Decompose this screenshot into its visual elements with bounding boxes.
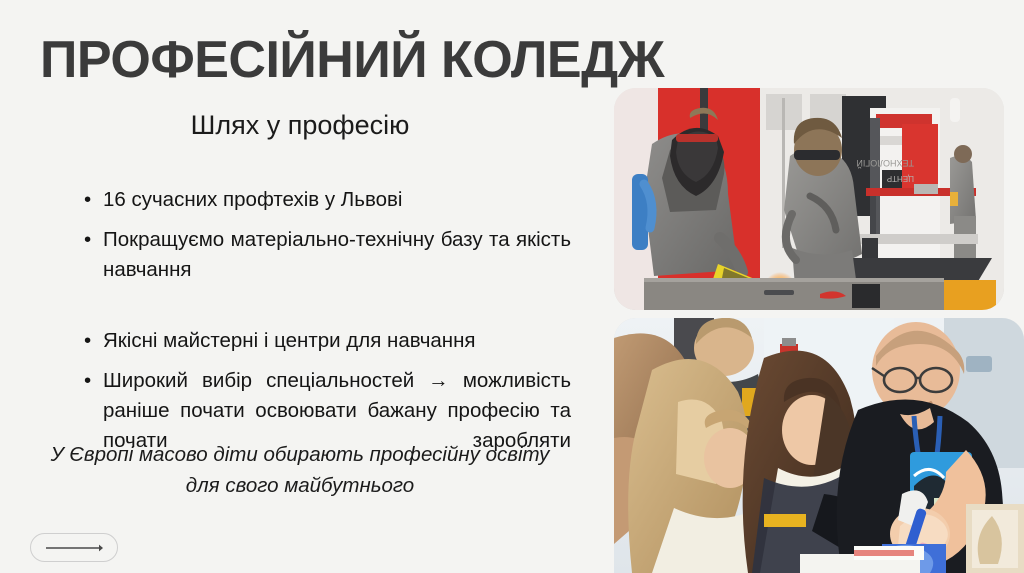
page-title: ПРОФЕСІЙНИЙ КОЛЕДЖ (40, 33, 664, 88)
photo-column: ТЕХНОЛОГІЙ ЦЕНТР (614, 0, 1024, 573)
bullet-marker: • (84, 326, 91, 356)
content-column: ПРОФЕСІЙНИЙ КОЛЕДЖ Шлях у професію • 16 … (0, 0, 604, 573)
list-item: • 16 сучасних профтехів у Львові (84, 185, 571, 215)
list-item-label: Покращуємо матеріально-технічну базу та … (103, 228, 571, 311)
footnote-text: У Європі масово діти обирають професійну… (40, 440, 560, 502)
welding-workshop-photo: ТЕХНОЛОГІЙ ЦЕНТР (614, 88, 1004, 310)
list-item: • Якісні майстерні і центри для навчання (84, 326, 571, 356)
list-item-label: 16 сучасних профтехів у Львові (103, 188, 402, 211)
bullet-marker: • (84, 225, 91, 255)
students-with-instructor-photo (614, 318, 1024, 573)
svg-text:ЦЕНТР: ЦЕНТР (887, 174, 914, 183)
bullet-marker: • (84, 366, 91, 396)
next-slide-button[interactable] (30, 533, 118, 562)
bullet-marker: • (84, 185, 91, 215)
svg-text:ТЕХНОЛОГІЙ: ТЕХНОЛОГІЙ (856, 158, 914, 169)
list-item: • Покращуємо матеріально-технічну базу т… (84, 225, 571, 315)
list-item-label: Якісні майстерні і центри для навчання (103, 329, 476, 352)
slide-canvas: ПРОФЕСІЙНИЙ КОЛЕДЖ Шлях у професію • 16 … (0, 0, 1024, 573)
page-subtitle: Шлях у професію (40, 108, 560, 143)
arrow-right-icon (44, 542, 104, 554)
